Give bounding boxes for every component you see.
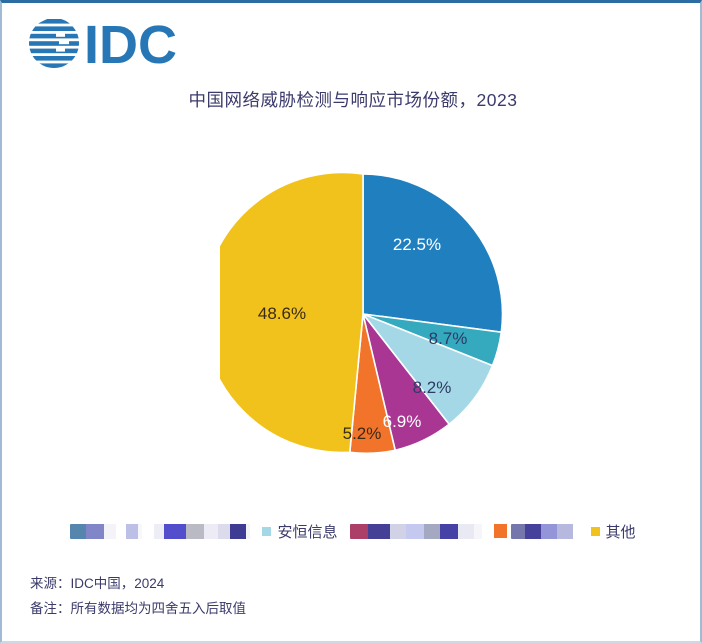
chart-page: IDC 中国网络威胁检测与响应市场份额，2023 22.5: [0, 0, 702, 643]
legend-label-redacted-icon: [154, 524, 250, 539]
idc-logo: IDC: [26, 15, 206, 73]
chart-title: 中国网络威胁检测与响应市场份额，2023: [2, 87, 702, 112]
legend-label-redacted-icon: [70, 524, 142, 539]
pie-chart: 22.5% 8.7% 8.2% 6.9% 5.2% 48.6%: [220, 171, 506, 457]
legend-item-label: 其他: [606, 521, 636, 542]
pie-label-4: 6.9%: [383, 412, 422, 431]
footer-note: 备注：所有数据均为四舍五入后取值: [30, 596, 650, 621]
legend-item-2[interactable]: [154, 519, 250, 543]
chart-footer: 来源：IDC中国，2024 备注：所有数据均为四舍五入后取值: [30, 571, 650, 621]
legend-label-redacted-icon: [350, 524, 482, 539]
legend-item-anheng[interactable]: 安恒信息: [262, 519, 337, 543]
legend-item-label: 安恒信息: [277, 521, 337, 542]
pie-label-2: 8.7%: [429, 329, 468, 348]
pie-label-5: 5.2%: [343, 424, 382, 443]
legend-item-1[interactable]: [70, 519, 142, 543]
legend-swatch-icon: [262, 527, 271, 536]
chart-legend: 安恒信息 其他: [2, 511, 702, 551]
legend-swatch-icon: [494, 524, 507, 538]
legend-item-5[interactable]: [494, 519, 579, 543]
legend-item-4[interactable]: [350, 519, 482, 543]
svg-text:IDC: IDC: [84, 16, 177, 72]
footer-source: 来源：IDC中国，2024: [30, 571, 650, 596]
pie-label-1: 22.5%: [393, 235, 441, 254]
legend-swatch-icon: [591, 527, 600, 536]
pie-label-6: 48.6%: [258, 304, 306, 323]
legend-label-redacted-icon: [511, 524, 579, 539]
pie-label-3: 8.2%: [413, 378, 452, 397]
idc-globe-icon: IDC: [26, 16, 206, 72]
legend-item-other[interactable]: 其他: [591, 519, 636, 543]
